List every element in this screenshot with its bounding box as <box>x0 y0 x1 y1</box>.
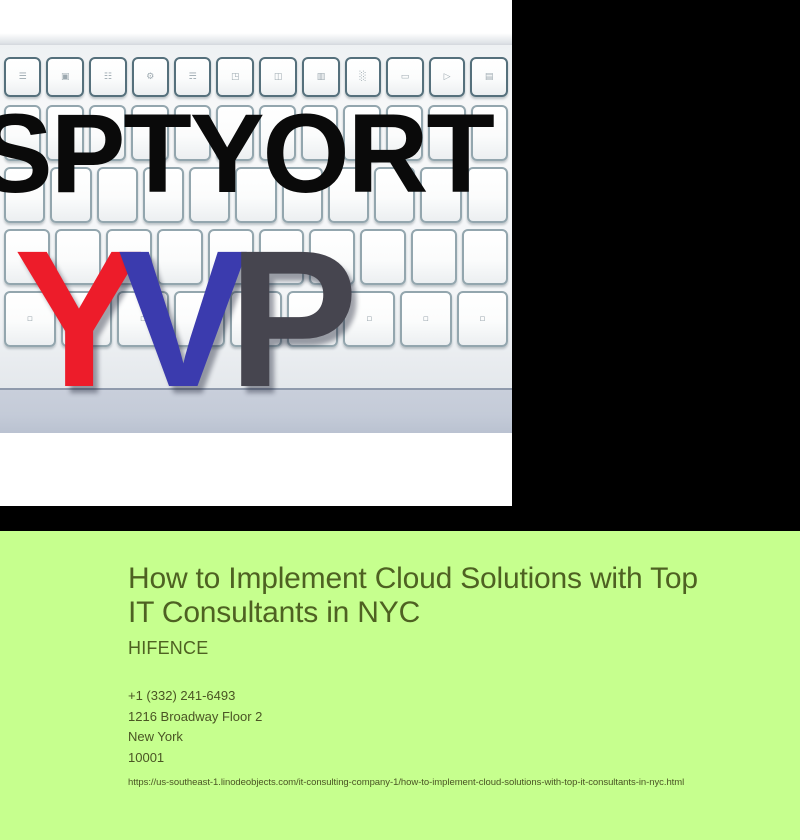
key-glyph-icon: ▭ <box>401 73 410 82</box>
keyboard-row-function: ☰ ▣ ☷ ⚙ ☴ ◳ ◫ ▥ ░ ▭ ▷ ▤ <box>0 57 512 97</box>
keyboard-key: ▤ <box>470 57 508 97</box>
keyboard-key: ▷ <box>429 57 465 97</box>
keyboard-key: ░ <box>345 57 381 97</box>
contact-block: +1 (332) 241-6493 1216 Broadway Floor 2 … <box>128 686 760 768</box>
brand-name: HIFENCE <box>128 638 760 659</box>
key-glyph-icon: ☷ <box>104 73 112 82</box>
contact-street: 1216 Broadway Floor 2 <box>128 707 760 728</box>
keyboard-key: ◫ <box>259 57 297 97</box>
article-panel: How to Implement Cloud Solutions with To… <box>0 531 800 840</box>
keyboard-key: ☷ <box>89 57 126 97</box>
keyboard-key: ⚙ <box>132 57 169 97</box>
key-glyph-icon: ☴ <box>189 73 197 82</box>
contact-city: New York <box>128 727 760 748</box>
hero-letter-p: P <box>228 222 348 417</box>
key-glyph-icon: ◳ <box>231 73 240 82</box>
key-glyph-icon: ▣ <box>61 73 70 82</box>
page-title: How to Implement Cloud Solutions with To… <box>128 562 708 629</box>
keyboard-key: ▭ <box>386 57 424 97</box>
hero-letter-y: Y <box>14 222 134 417</box>
keyboard-key: ▥ <box>302 57 340 97</box>
article-hero-image: ☰ ▣ ☷ ⚙ ☴ ◳ ◫ ▥ ░ ▭ ▷ ▤ ▫ ▫ ▫ ▫ ▫ ▫ ▫ <box>0 0 512 506</box>
hero-canvas: ☰ ▣ ☷ ⚙ ☴ ◳ ◫ ▥ ░ ▭ ▷ ▤ ▫ ▫ ▫ ▫ ▫ ▫ ▫ <box>0 0 800 531</box>
keyboard-key: ◳ <box>216 57 254 97</box>
hero-overlay-letters: YVP <box>14 222 512 422</box>
key-glyph-icon: ▥ <box>317 73 326 82</box>
contact-phone[interactable]: +1 (332) 241-6493 <box>128 686 760 707</box>
key-glyph-icon: ▤ <box>485 73 494 82</box>
key-glyph-icon: ⚙ <box>146 73 154 82</box>
key-glyph-icon: ◫ <box>274 73 283 82</box>
key-glyph-icon: ☰ <box>19 73 27 82</box>
article-url[interactable]: https://us-southeast-1.linodeobjects.com… <box>128 777 760 788</box>
key-glyph-icon: ▷ <box>444 73 451 82</box>
keyboard-key: ☴ <box>174 57 211 97</box>
key-glyph-icon: ░ <box>360 73 367 82</box>
keyboard-key: ▣ <box>46 57 84 97</box>
hero-overlay-word-black: SPTYORT <box>0 98 512 210</box>
hero-image-footer <box>0 433 512 506</box>
contact-zip: 10001 <box>128 748 760 769</box>
keyboard-key: ☰ <box>4 57 41 97</box>
hero-letter-v: V <box>118 222 238 417</box>
